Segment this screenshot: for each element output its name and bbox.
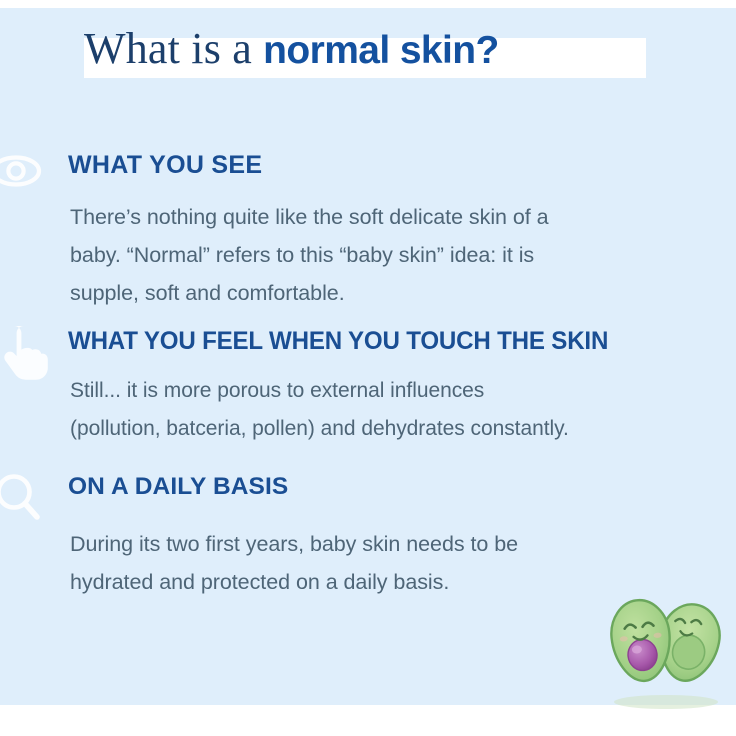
section-body: During its two first years, baby skin ne… xyxy=(70,525,690,601)
section-heading: WHAT YOU FEEL WHEN YOU TOUCH THE SKIN xyxy=(68,324,608,358)
section-body: There’s nothing quite like the soft deli… xyxy=(70,198,710,312)
touch-hand-icon xyxy=(0,320,50,380)
eye-icon xyxy=(0,148,50,194)
page-title-light: What is a xyxy=(84,24,263,73)
page-title: What is a normal skin? xyxy=(84,19,684,79)
section-body: Still... it is more porous to external i… xyxy=(70,372,736,448)
two-smiling-avocados-illustration xyxy=(596,592,736,710)
section-heading: ON A DAILY BASIS xyxy=(68,470,288,504)
infographic-card: What is a normal skin? WHAT YOU SEE Ther… xyxy=(0,0,736,736)
section-heading: WHAT YOU SEE xyxy=(68,148,262,182)
magnifier-icon xyxy=(0,472,50,524)
page-title-bold: normal skin? xyxy=(263,29,499,72)
